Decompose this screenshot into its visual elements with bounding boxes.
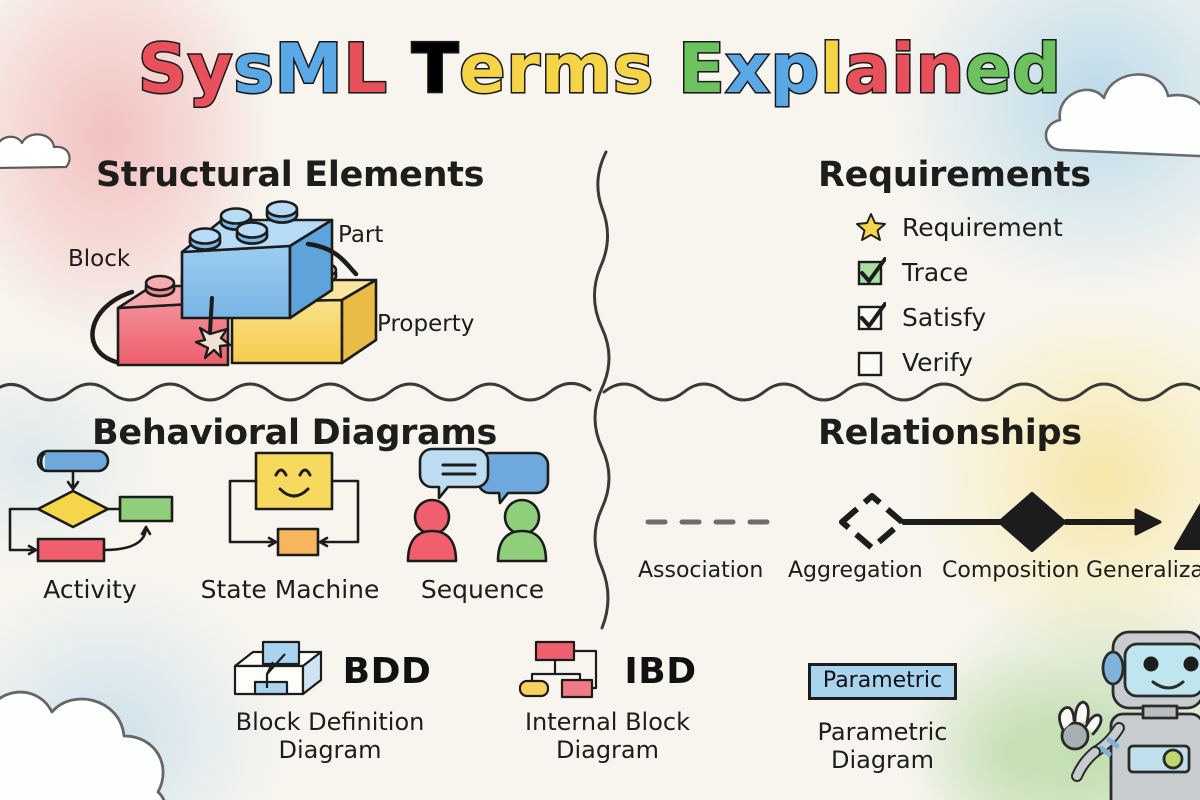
- relationship-caption-composition: Composition: [942, 558, 1079, 583]
- requirement-item-label: Verify: [902, 348, 973, 377]
- requirement-item-trace[interactable]: Trace: [856, 253, 1063, 291]
- title-letter: y: [188, 30, 233, 109]
- behavioral-item-caption: Sequence: [395, 575, 570, 604]
- relationship-notation-icons: [620, 480, 1200, 560]
- relationship-caption-association: Association: [638, 558, 763, 583]
- title-letter: n: [916, 30, 965, 109]
- waving-robot-icon: [1033, 616, 1200, 800]
- title-letter: S: [138, 30, 188, 109]
- requirement-item-label: Satisfy: [902, 303, 986, 332]
- diagram-abbr-bdd: BDD: [343, 651, 432, 692]
- cloud-bottom-left-icon: [0, 644, 194, 800]
- relationship-caption-generalization: Generalization: [1086, 558, 1200, 583]
- state-machine-icon: [190, 455, 390, 565]
- title-letter: E: [678, 30, 725, 109]
- section-heading-relationships: Relationships: [818, 413, 1082, 453]
- title-letter: M: [275, 30, 344, 109]
- hollow-diamond-icon: [842, 496, 902, 548]
- diagram-caption-ibd-line2: Diagram: [500, 736, 715, 764]
- requirement-item-requirement[interactable]: Requirement: [856, 208, 1063, 246]
- diagram-caption-parametric-line2: Diagram: [775, 746, 990, 774]
- title-letter: r: [506, 30, 541, 109]
- behavioral-item-state-machine[interactable]: State Machine: [190, 455, 390, 604]
- lego-bricks-illustration: [60, 190, 480, 375]
- title-letter: l: [820, 30, 844, 109]
- title-letter: s: [613, 30, 654, 109]
- label-part: Part: [338, 222, 383, 248]
- title-letter: d: [1012, 30, 1062, 109]
- title-letter: s: [233, 30, 274, 109]
- diagram-item-bdd[interactable]: BDD Block Definition Diagram: [215, 640, 445, 765]
- parametric-chip-label: Parametric: [808, 663, 957, 700]
- diagram-caption-bdd-line2: Diagram: [215, 736, 445, 764]
- diagram-item-parametric[interactable]: Parametric Parametric Diagram: [775, 650, 990, 775]
- ibd-tree-icon: [518, 640, 610, 702]
- infographic-canvas: SysMLTermsExplained Structural Elements …: [0, 0, 1200, 800]
- checkbox-empty-icon: [856, 347, 886, 377]
- title-letter: a: [845, 30, 892, 109]
- sequence-diagram-icon: [395, 455, 570, 565]
- requirement-item-verify[interactable]: Verify: [856, 343, 1063, 381]
- diagram-caption-bdd-line1: Block Definition: [215, 708, 445, 736]
- filled-triangle-icon: [1176, 490, 1200, 548]
- requirements-list: Requirement Trace Satisfy: [856, 208, 1063, 388]
- checkbox-checked-icon: [856, 302, 886, 332]
- title-letter: L: [343, 30, 387, 109]
- title-letter: p: [771, 30, 821, 109]
- behavioral-item-caption: Activity: [0, 575, 180, 604]
- section-heading-structural: Structural Elements: [96, 155, 484, 195]
- diagram-item-ibd[interactable]: IBD Internal Block Diagram: [500, 640, 715, 765]
- requirement-item-satisfy[interactable]: Satisfy: [856, 298, 1063, 336]
- title-letter: m: [541, 30, 613, 109]
- title-letter: e: [459, 30, 506, 109]
- title-letter: i: [891, 30, 915, 109]
- label-block: Block: [68, 246, 130, 272]
- cloud-top-left-icon: [0, 112, 106, 186]
- title-letter: x: [726, 30, 771, 109]
- bdd-box-icon: [229, 640, 329, 702]
- relationships-row: Association Aggregation Composition Gene…: [620, 480, 1200, 590]
- page-title: SysMLTermsExplained: [0, 30, 1200, 109]
- behavioral-item-caption: State Machine: [190, 575, 390, 604]
- star-icon: [856, 212, 886, 242]
- title-letter: T: [412, 30, 459, 109]
- diagram-abbr-ibd: IBD: [624, 651, 696, 692]
- checkbox-checked-icon: [856, 257, 886, 287]
- behavioral-item-sequence[interactable]: Sequence: [395, 455, 570, 604]
- section-heading-requirements: Requirements: [818, 155, 1091, 195]
- relationship-caption-aggregation: Aggregation: [788, 558, 923, 583]
- activity-diagram-icon: [0, 455, 180, 565]
- requirement-item-label: Requirement: [902, 213, 1063, 242]
- parametric-chip-icon: Parametric: [775, 650, 990, 712]
- requirement-item-label: Trace: [902, 258, 968, 287]
- label-property: Property: [377, 311, 474, 337]
- diagram-caption-ibd-line1: Internal Block: [500, 708, 715, 736]
- behavioral-item-activity[interactable]: Activity: [0, 455, 180, 604]
- title-letter: e: [965, 30, 1012, 109]
- filled-diamond-icon: [1000, 494, 1064, 550]
- diagram-caption-parametric-line1: Parametric: [775, 718, 990, 746]
